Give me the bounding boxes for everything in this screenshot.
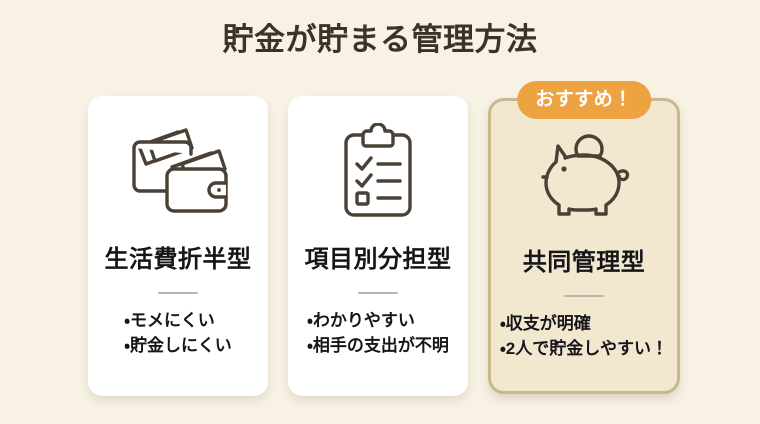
two-wallets-icon — [88, 96, 268, 246]
card-bullet-list: モメにくい 貯金しにくい — [124, 308, 231, 358]
list-item: モメにくい — [124, 308, 231, 333]
card-row: 生活費折半型 モメにくい 貯金しにくい — [88, 96, 680, 396]
infographic-page: 貯金が貯まる管理方法 — [0, 0, 760, 424]
clipboard-checklist-icon — [288, 96, 468, 246]
card-title: 項目別分担型 — [305, 246, 452, 274]
card-koumokubetsu-buntan[interactable]: 項目別分担型 わかりやすい 相手の支出が不明 — [288, 96, 468, 396]
card-kyoudou-kanri[interactable]: おすすめ！ 共同管理型 — [488, 98, 680, 394]
list-item: わかりやすい — [307, 308, 449, 333]
card-bullet-list: 収支が明確 2人で貯金しやすい！ — [500, 311, 668, 361]
list-item: 貯金しにくい — [124, 333, 231, 358]
title-divider — [564, 295, 604, 297]
piggy-bank-icon — [491, 101, 677, 249]
card-seikatsuhi-seppan[interactable]: 生活費折半型 モメにくい 貯金しにくい — [88, 96, 268, 396]
list-item: 収支が明確 — [500, 311, 668, 336]
page-title: 貯金が貯まる管理方法 — [0, 20, 760, 60]
title-divider — [158, 292, 198, 294]
card-bullet-list: わかりやすい 相手の支出が不明 — [307, 308, 449, 358]
card-title: 共同管理型 — [523, 249, 646, 277]
list-item: 相手の支出が不明 — [307, 333, 449, 358]
card-title: 生活費折半型 — [105, 246, 252, 274]
list-item: 2人で貯金しやすい！ — [500, 336, 668, 361]
title-divider — [358, 292, 398, 294]
recommended-badge: おすすめ！ — [517, 81, 651, 119]
